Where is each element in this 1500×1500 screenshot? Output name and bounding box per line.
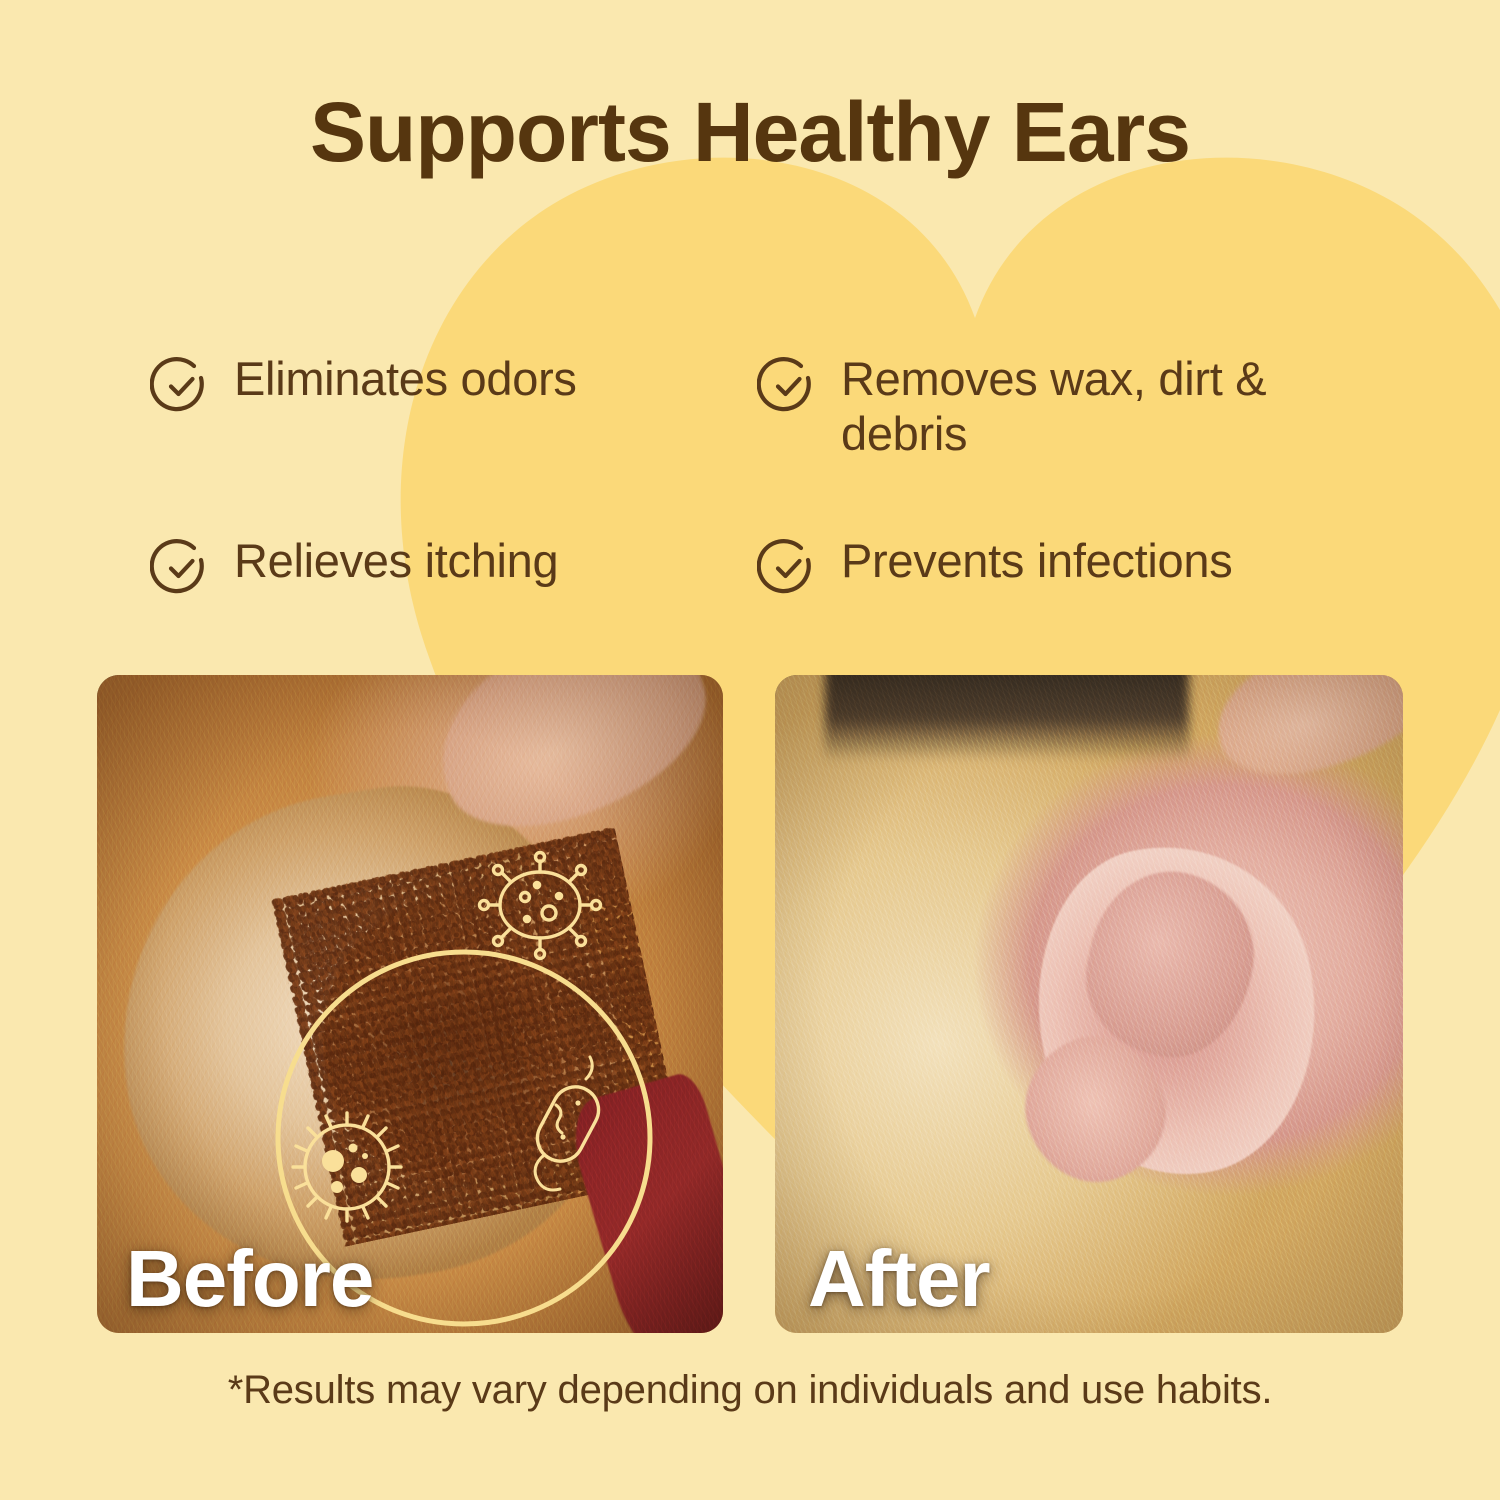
check-circle-icon xyxy=(757,355,819,422)
benefit-label: Prevents infections xyxy=(841,534,1232,589)
page-title: Supports Healthy Ears xyxy=(0,84,1500,181)
before-photo-panel: Before xyxy=(97,675,723,1333)
benefit-item-eliminates-odors: Eliminates odors xyxy=(150,352,710,422)
benefits-list: Eliminates odors Removes wax, dirt & deb… xyxy=(150,352,1380,622)
before-caption: Before xyxy=(126,1233,373,1325)
check-circle-icon xyxy=(150,537,212,604)
after-photo-panel: After xyxy=(775,675,1403,1333)
benefit-label: Removes wax, dirt & debris xyxy=(841,352,1377,462)
check-circle-icon xyxy=(757,537,819,604)
after-caption: After xyxy=(808,1233,990,1325)
benefit-item-relieves-itching: Relieves itching xyxy=(150,534,710,604)
benefit-label: Relieves itching xyxy=(234,534,558,589)
benefit-item-removes-wax-dirt-debris: Removes wax, dirt & debris xyxy=(757,352,1377,462)
product-benefit-card: Supports Healthy Ears Eliminates odors R… xyxy=(0,0,1500,1500)
results-disclaimer: *Results may vary depending on individua… xyxy=(0,1368,1500,1413)
check-circle-icon xyxy=(150,355,212,422)
benefit-label: Eliminates odors xyxy=(234,352,577,407)
benefit-item-prevents-infections: Prevents infections xyxy=(757,534,1377,604)
